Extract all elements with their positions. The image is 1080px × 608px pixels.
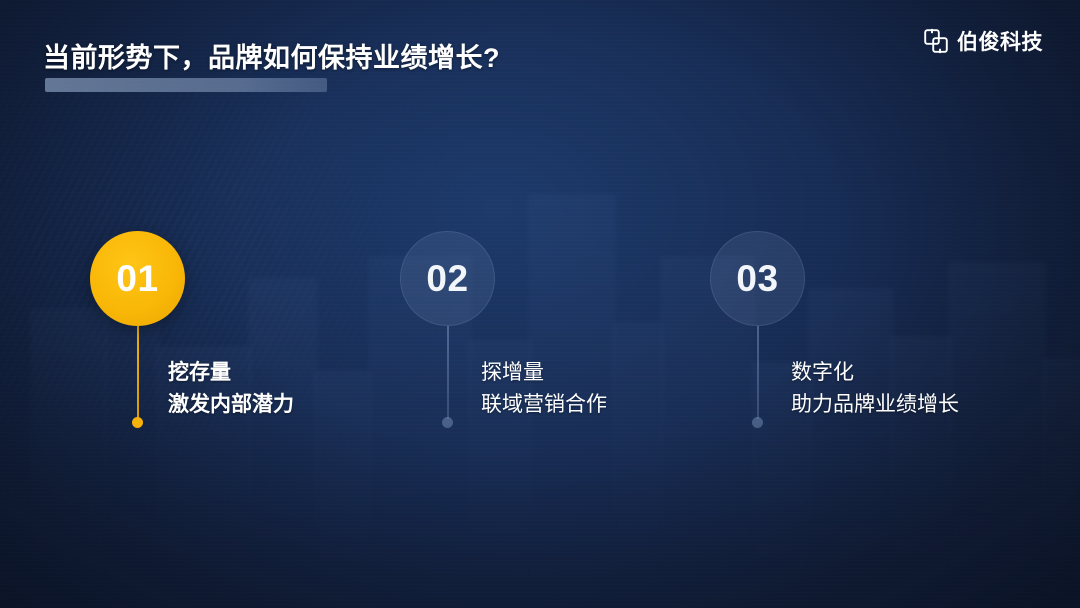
step-number-02: 02 bbox=[426, 260, 468, 297]
step-item-02[interactable]: 02 bbox=[400, 231, 495, 326]
step-label-03: 数字化 助力品牌业绩增长 bbox=[791, 357, 959, 421]
step-number-01: 01 bbox=[116, 260, 158, 297]
step-endpoint-dot-02 bbox=[442, 417, 453, 428]
step-connector-02 bbox=[447, 326, 449, 419]
page-title: 当前形势下，品牌如何保持业绩增长? bbox=[43, 36, 500, 75]
step-circle-02[interactable]: 02 bbox=[400, 231, 495, 326]
step-label-02: 探增量 联域营销合作 bbox=[481, 357, 607, 421]
title-highlight-bar bbox=[45, 78, 327, 92]
step-number-03: 03 bbox=[736, 260, 778, 297]
presentation-slide: 当前形势下，品牌如何保持业绩增长? 伯俊科技 01 02 bbox=[0, 0, 1080, 608]
step-circle-01[interactable]: 01 bbox=[90, 231, 185, 326]
step-label-03-line2: 助力品牌业绩增长 bbox=[791, 389, 959, 421]
step-connector-03 bbox=[757, 326, 759, 419]
step-item-01[interactable]: 01 bbox=[90, 231, 185, 326]
step-label-01: 挖存量 激发内部潜力 bbox=[168, 357, 294, 421]
overlapping-squares-icon bbox=[923, 28, 949, 54]
brand-logo: 伯俊科技 bbox=[923, 26, 1043, 56]
step-label-01-line2: 激发内部潜力 bbox=[168, 389, 294, 421]
step-label-02-line1: 探增量 bbox=[481, 357, 607, 389]
step-connector-01 bbox=[137, 326, 139, 419]
step-label-01-line1: 挖存量 bbox=[168, 357, 294, 389]
step-label-02-line2: 联域营销合作 bbox=[481, 389, 607, 421]
slide-title-block: 当前形势下，品牌如何保持业绩增长? bbox=[43, 36, 500, 75]
step-item-03[interactable]: 03 bbox=[710, 231, 805, 326]
step-endpoint-dot-03 bbox=[752, 417, 763, 428]
brand-name: 伯俊科技 bbox=[957, 26, 1043, 56]
step-circle-03[interactable]: 03 bbox=[710, 231, 805, 326]
step-label-03-line1: 数字化 bbox=[791, 357, 959, 389]
step-endpoint-dot-01 bbox=[132, 417, 143, 428]
